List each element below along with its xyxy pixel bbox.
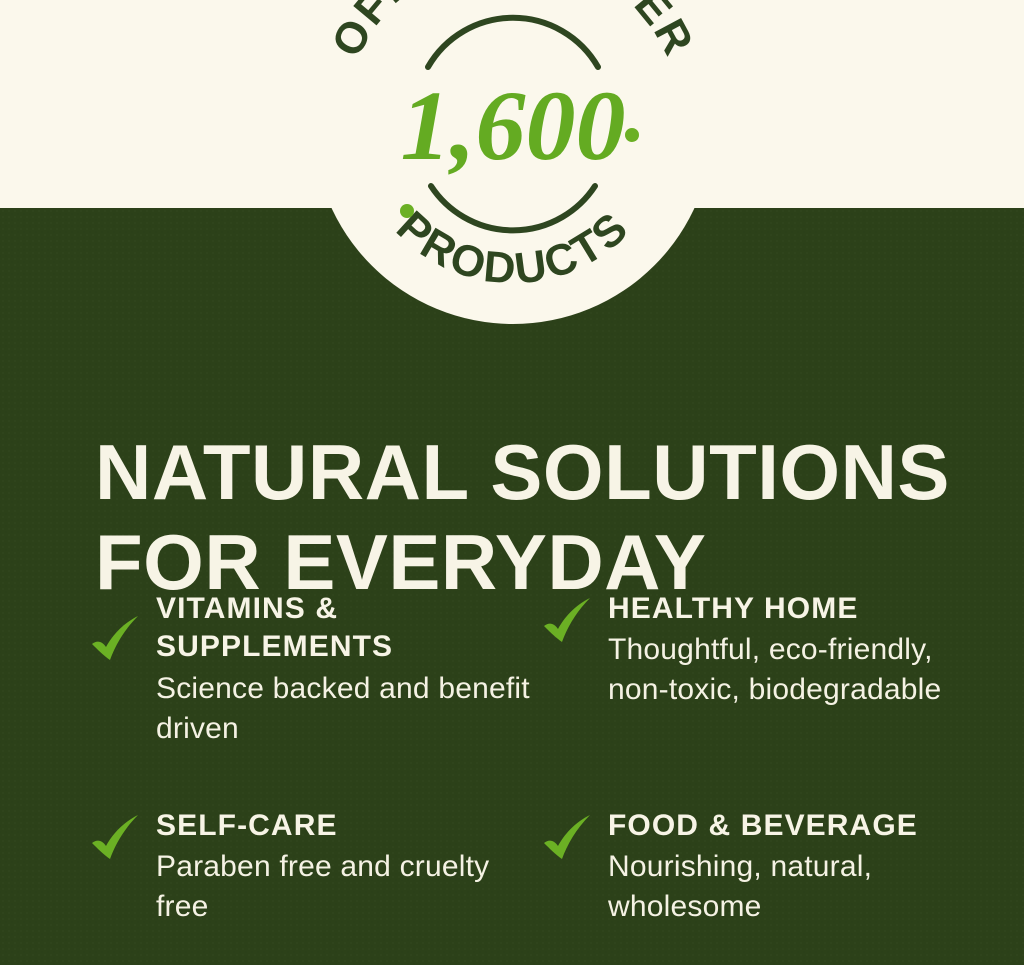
feature-text: FOOD & BEVERAGE Nourishing, natural, who… xyxy=(608,805,988,927)
feature-title: FOOD & BEVERAGE xyxy=(608,807,988,845)
product-count-badge: OFFERING OVER PRODUCTS 1,600 xyxy=(313,0,713,324)
badge-top-arc-label: OFFERING OVER xyxy=(322,0,703,65)
feature-title: SELF-CARE xyxy=(156,807,540,845)
feature-description: Science backed and benefit driven xyxy=(156,669,540,749)
badge-arc-ornament-top xyxy=(428,18,598,67)
check-icon xyxy=(88,813,144,869)
feature-item-vitamins-supplements: VITAMINS & SUPPLEMENTS Science backed an… xyxy=(88,588,540,749)
feature-text: VITAMINS & SUPPLEMENTS Science backed an… xyxy=(156,588,540,749)
check-icon xyxy=(540,813,596,869)
feature-item-healthy-home: HEALTHY HOME Thoughtful, eco-friendly, n… xyxy=(540,588,988,749)
feature-description: Thoughtful, eco-friendly, non-toxic, bio… xyxy=(608,630,988,710)
badge-dot-left-icon xyxy=(400,204,414,218)
feature-text: HEALTHY HOME Thoughtful, eco-friendly, n… xyxy=(608,588,988,710)
feature-text: SELF-CARE Paraben free and cruelty free xyxy=(156,805,540,927)
feature-item-self-care: SELF-CARE Paraben free and cruelty free xyxy=(88,805,540,927)
feature-description: Nourishing, natural, wholesome xyxy=(608,847,988,927)
check-icon xyxy=(540,596,596,652)
badge-arc-ornament-bottom xyxy=(431,186,595,230)
feature-description: Paraben free and cruelty free xyxy=(156,847,540,927)
badge-product-count: 1,600 xyxy=(401,70,626,181)
check-icon xyxy=(88,614,144,670)
feature-title: HEALTHY HOME xyxy=(608,590,988,628)
headline-line-1: NATURAL SOLUTIONS xyxy=(95,428,975,518)
feature-list: VITAMINS & SUPPLEMENTS Science backed an… xyxy=(88,588,988,927)
badge-bottom-arc-label: PRODUCTS xyxy=(387,202,638,294)
feature-item-food-beverage: FOOD & BEVERAGE Nourishing, natural, who… xyxy=(540,805,988,927)
feature-title: VITAMINS & SUPPLEMENTS xyxy=(156,590,540,667)
page-title: NATURAL SOLUTIONS FOR EVERYDAY xyxy=(95,428,975,607)
badge-dot-right-icon xyxy=(625,128,639,142)
promo-banner: OFFERING OVER PRODUCTS 1,600 NATURAL SOL… xyxy=(0,0,1024,965)
